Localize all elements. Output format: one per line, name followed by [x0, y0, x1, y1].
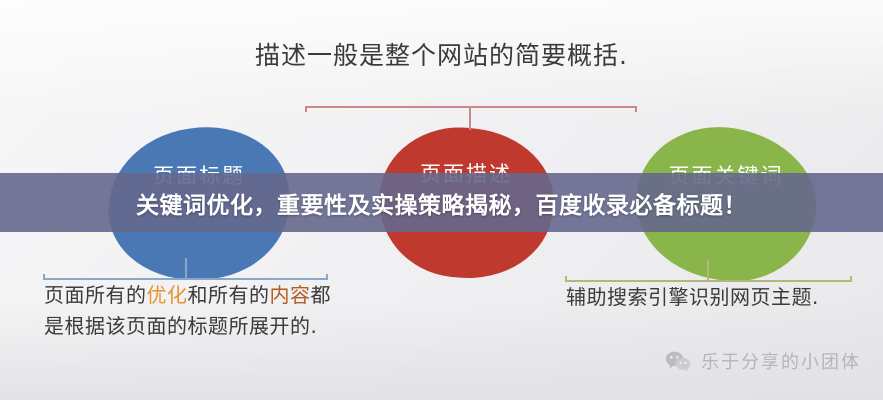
infographic-canvas: 描述一般是整个网站的简要概括. 页面标题 页面描述 页面关键词 页面所有的优化和…: [0, 0, 883, 400]
caption-left-highlight-optimization: 优化: [147, 283, 188, 307]
bracket-center-stem: [469, 107, 471, 130]
bracket-left-cap: [305, 106, 307, 112]
banner-title-text: 关键词优化，重要性及实操策略揭秘，百度收录必备标题！: [136, 186, 747, 220]
caption-left: 页面所有的优化和所有的内容都是根据该页面的标题所展开的.: [44, 280, 344, 342]
bracket-center-stem: [707, 260, 709, 281]
left-bracket-connector: [43, 258, 328, 280]
caption-left-segment-2: 和所有的: [188, 283, 270, 307]
watermark-text: 乐于分享的小团体: [701, 348, 861, 374]
title-banner: 关键词优化，重要性及实操策略揭秘，百度收录必备标题！: [0, 173, 883, 232]
bracket-right-cap: [635, 106, 637, 112]
caption-left-segment-1: 页面所有的: [44, 283, 147, 307]
caption-left-highlight-content: 内容: [270, 283, 311, 307]
bracket-center-stem: [185, 258, 187, 279]
wechat-icon: [665, 350, 691, 372]
top-bracket-connector: [305, 106, 637, 130]
caption-right: 辅助搜索引擎识别网页主题.: [566, 282, 866, 313]
top-caption: 描述一般是整个网站的简要概括.: [0, 40, 883, 71]
bracket-horizontal-line: [305, 106, 637, 108]
right-bracket-connector: [565, 260, 852, 282]
watermark: 乐于分享的小团体: [665, 348, 861, 374]
